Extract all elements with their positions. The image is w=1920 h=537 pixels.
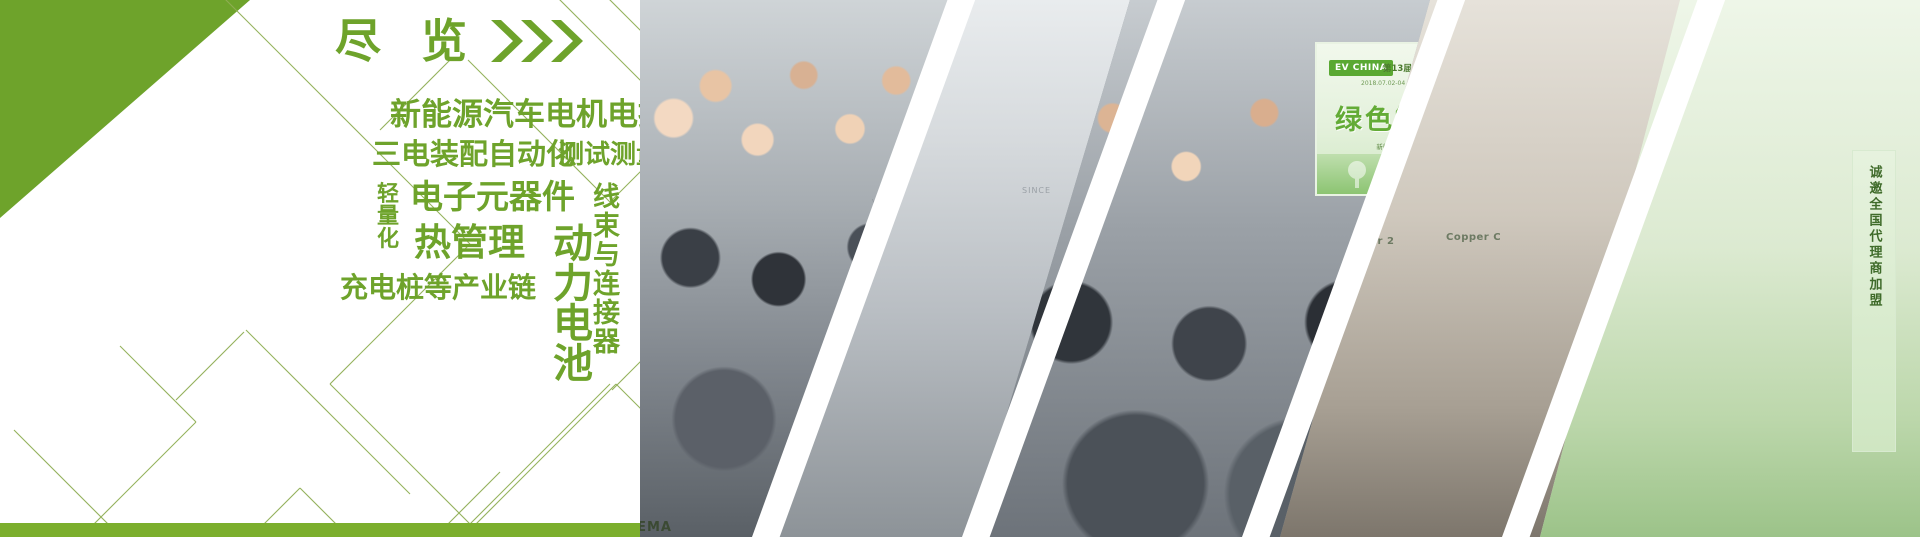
photo-collage: 2006 Visitor Registration KEMA SINCE EV …	[640, 0, 1920, 537]
headline-text: 尽 览	[335, 18, 479, 64]
agent-recruitment-sign: 诚邀全国代理商加盟	[1852, 150, 1896, 452]
keyword-electronic-components: 电子元器件	[410, 180, 575, 213]
keyword-new-energy-vehicle-motor-control: 新能源汽车电机电控	[390, 100, 669, 131]
since-mark: SINCE	[1022, 186, 1051, 195]
left-panel: 尽 览 新能源汽车电机电控 三电装配自动化 测试测量 轻量化 电子元器件 热管理…	[0, 0, 720, 537]
keyword-three-electric-assembly-automation: 三电装配自动化	[372, 140, 575, 169]
kema-watermark: KEMA	[640, 520, 672, 535]
triple-chevron-right-icon	[489, 16, 585, 66]
keyword-thermal-management: 热管理	[414, 224, 525, 261]
exhibition-banner: 尽 览 新能源汽车电机电控 三电装配自动化 测试测量 轻量化 电子元器件 热管理…	[0, 0, 1920, 537]
bottom-green-bar	[0, 523, 720, 537]
headline: 尽 览	[335, 16, 585, 66]
keyword-wiring-harness-connector: 线束与连接器	[590, 182, 617, 356]
keyword-charging-pile-industry-chain: 充电桩等产业链	[340, 274, 536, 302]
agent-sign-text: 诚邀全国代理商加盟	[1865, 165, 1884, 309]
keyword-power-battery: 动力电池	[549, 222, 589, 382]
keyword-lightweighting: 轻量化	[376, 184, 400, 251]
booth-label-copperc: Copper C	[1446, 232, 1501, 243]
